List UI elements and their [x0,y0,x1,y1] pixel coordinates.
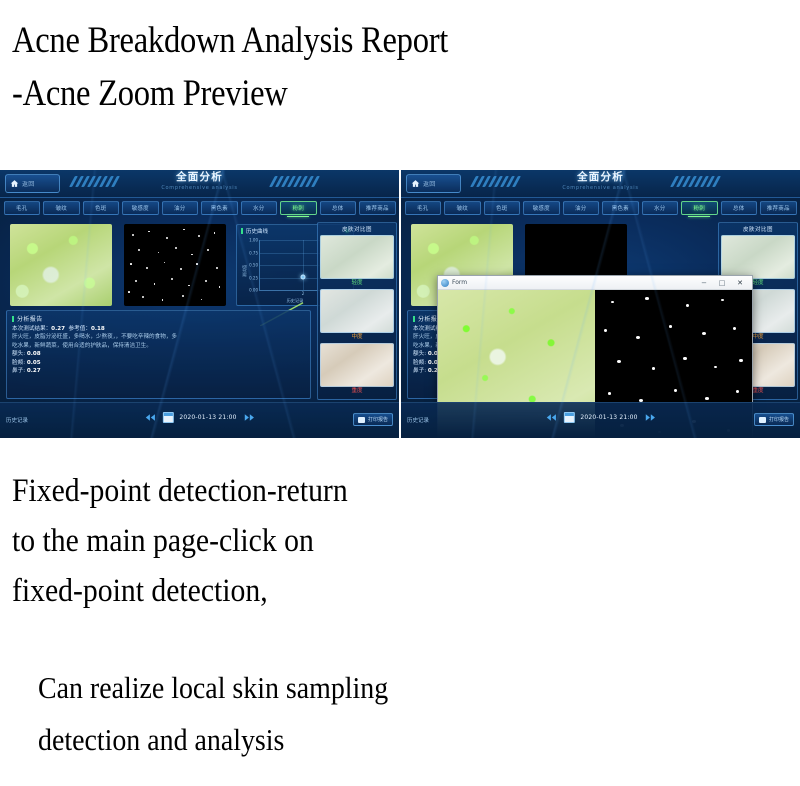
modal-window-controls[interactable]: − □ ✕ [695,276,749,289]
report-metric-cheek-label: 脸颊: [413,360,426,366]
history-nav-group: 2020-01-13 21:00 [143,412,255,423]
skin-comparison-sidebar: 皮肤对比图 轻度 中度 重度 [317,222,397,400]
tab-spots[interactable]: 色斑 [484,201,521,215]
tab-spots[interactable]: 色斑 [83,201,120,215]
chart-y-axis-label: 测试值 [242,265,248,277]
modal-titlebar[interactable]: Form − □ ✕ [438,276,752,290]
caption-line-2: to the main page-click on [12,516,723,566]
home-button-left[interactable]: 返回 [5,174,60,193]
screenshot-left: 返回 全面分析 Comprehensive analysis [0,170,399,438]
report-header: 分析报告 [12,314,305,323]
tab-oil[interactable]: 油分 [563,201,600,215]
analysis-tabs-left[interactable]: 毛孔 皱纹 色斑 敏感度 油分 黑色素 水分 粉刺 总体 推荐商品 [0,198,399,218]
tab-sensitivity[interactable]: 敏感度 [122,201,159,215]
tab-recommended-products[interactable]: 推荐商品 [760,201,797,215]
page-root: Acne Breakdown Analysis Report -Acne Zoo… [0,0,800,786]
print-report-label: 打印报告 [769,416,789,423]
prev-record-button[interactable] [143,412,156,423]
next-record-button[interactable] [243,412,256,423]
tab-melanin[interactable]: 黑色素 [201,201,238,215]
chart-ytick-1: 0.75 [249,250,258,255]
app-title-cn: 全面分析 [526,171,676,184]
home-button-label: 返回 [22,179,35,188]
page-title-line-1: Acne Breakdown Analysis Report [12,14,698,67]
tab-pores[interactable]: 毛孔 [405,201,442,215]
report-reference-label: 参考值： [69,326,91,332]
calendar-picker-button[interactable] [162,412,173,423]
caption-block-secondary: Can realize local skin sampling detectio… [38,662,800,766]
report-metric-forehead-label: 额头: [413,351,426,357]
history-nav-group: 2020-01-13 21:00 [544,412,656,423]
analysis-report-panel: 分析报告 本次测试结果：0.27 参考值：0.18 肝火旺，皮脂分泌旺盛，多喝水… [6,310,311,399]
close-button[interactable]: ✕ [731,276,749,289]
tab-overall[interactable]: 总体 [721,201,758,215]
report-accent-bar-icon [12,316,14,322]
home-button-label: 返回 [423,179,436,188]
report-advice-line-1: 肝火旺，皮脂分泌旺盛，多喝水，少熬夜，，不要吃辛辣的食物，多 [12,333,305,341]
app-title-cn: 全面分析 [125,171,275,184]
caption-line-4: Can realize local skin sampling [38,662,731,714]
tab-acne[interactable]: 粉刺 [280,201,317,215]
next-record-button[interactable] [644,412,657,423]
skin-comparison-title: 皮肤对比图 [320,225,394,233]
acne-mask-image[interactable] [124,224,226,306]
home-icon [10,179,19,188]
print-report-label: 打印报告 [368,416,388,423]
app-title-left: 全面分析 Comprehensive analysis [125,171,275,192]
comparison-label-severe: 重度 [320,388,394,395]
screenshot-right: 返回 全面分析 Comprehensive analysis [401,170,800,438]
app-topbar-left: 返回 全面分析 Comprehensive analysis [0,170,399,198]
report-accent-bar-icon [413,316,415,322]
skin-capture-image[interactable] [10,224,112,306]
header-deco-left-icon [72,176,130,189]
skin-comparison-title: 皮肤对比图 [721,225,795,233]
tab-acne[interactable]: 粉刺 [681,201,718,215]
app-bottombar-left: 历史记录 2020-01-13 21:00 [0,402,399,438]
report-result-value: 0.27 [51,326,65,332]
comparison-label-moderate: 中度 [320,334,394,341]
tab-sensitivity[interactable]: 敏感度 [523,201,560,215]
report-metric-cheek: 脸颊: 0.05 [12,359,305,367]
chart-ytick-0: 1.00 [249,238,258,243]
history-label: 历史记录 [407,416,429,424]
report-title: 分析报告 [17,314,43,323]
fast-forward-icon [244,412,255,423]
report-reference-value: 0.18 [91,326,105,332]
app-window-icon [441,279,449,287]
printer-icon [759,417,766,423]
page-title-line-2: -Acne Zoom Preview [12,67,698,120]
tab-pores[interactable]: 毛孔 [4,201,41,215]
print-report-button[interactable]: 打印报告 [353,413,393,426]
caption-line-3: fixed-point detection, [12,566,723,616]
comparison-thumbnail-severe[interactable] [320,343,394,387]
chart-accent-bar-icon [241,228,243,234]
tab-melanin[interactable]: 黑色素 [602,201,639,215]
tab-oil[interactable]: 油分 [162,201,199,215]
tab-overall[interactable]: 总体 [320,201,357,215]
caption-block-primary: Fixed-point detection-return to the main… [12,466,800,616]
app-title-en: Comprehensive analysis [526,184,676,192]
printer-icon [358,417,365,423]
skin-analysis-app-left: 返回 全面分析 Comprehensive analysis [0,170,399,438]
calendar-picker-button[interactable] [563,412,574,423]
report-metric-nose: 鼻子: 0.27 [12,367,305,375]
header-deco-right-icon [673,176,731,189]
caption-line-1: Fixed-point detection-return [12,466,723,516]
header-deco-left-icon [473,176,531,189]
workarea-left: 历史曲线 1.00 [0,220,399,402]
app-bottombar-right: 历史记录 2020-01-13 21:00 [401,402,800,438]
report-metric-nose-label: 鼻子: [413,368,426,374]
record-date: 2020-01-13 21:00 [179,414,236,421]
comparison-thumbnail-mild[interactable] [721,235,795,279]
comparison-label-mild: 轻度 [320,280,394,287]
tab-moisture[interactable]: 水分 [241,201,278,215]
minimize-button[interactable]: − [695,276,713,289]
comparison-thumbnail-moderate[interactable] [320,289,394,333]
main-panel-left: 历史曲线 1.00 [4,222,313,400]
record-date: 2020-01-13 21:00 [580,414,637,421]
report-advice-line-2: 吃水果，新鲜蔬菜，使用合适的护肤品，保持清洁卫生。 [12,342,305,350]
modal-title: Form [452,279,467,286]
report-metric-cheek-value: 0.05 [27,360,41,366]
app-title-en: Comprehensive analysis [125,184,275,192]
rewind-icon [545,412,556,423]
report-metric-forehead-value: 0.08 [27,351,41,357]
app-topbar-right: 返回 全面分析 Comprehensive analysis [401,170,800,198]
print-report-button[interactable]: 打印报告 [754,413,794,426]
tab-wrinkles[interactable]: 皱纹 [43,201,80,215]
report-result-row: 本次测试结果：0.27 参考值：0.18 [12,325,305,333]
skin-analysis-app-right: 返回 全面分析 Comprehensive analysis [401,170,800,438]
report-result-label: 本次测试结果： [12,326,51,332]
report-metric-nose-value: 0.27 [27,368,41,374]
prev-record-button[interactable] [544,412,557,423]
app-title-right: 全面分析 Comprehensive analysis [526,171,676,192]
page-title: Acne Breakdown Analysis Report -Acne Zoo… [12,14,792,120]
rewind-icon [144,412,155,423]
tab-recommended-products[interactable]: 推荐商品 [359,201,396,215]
chart-ytick-2: 0.50 [249,263,258,268]
header-deco-right-icon [272,176,330,189]
chart-ytick-4: 0.00 [249,288,258,293]
chart-data-point[interactable] [301,274,306,279]
report-metric-forehead: 额头: 0.08 [12,350,305,358]
caption-line-5: detection and analysis [38,714,731,766]
report-metric-nose-label: 鼻子: [12,368,25,374]
maximize-button[interactable]: □ [713,276,731,289]
comparison-thumbnail-mild[interactable] [320,235,394,279]
chart-ytick-3: 0.25 [249,275,258,280]
history-label: 历史记录 [6,416,28,424]
home-icon [411,179,420,188]
home-button-right[interactable]: 返回 [406,174,461,193]
tab-moisture[interactable]: 水分 [642,201,679,215]
report-metric-forehead-label: 额头: [12,351,25,357]
tab-wrinkles[interactable]: 皱纹 [444,201,481,215]
screenshot-strip: 返回 全面分析 Comprehensive analysis [0,170,800,438]
chart-title: 历史曲线 [246,227,268,235]
fast-forward-icon [645,412,656,423]
workarea-right: 分析报告 本次测试结果：0.27 参考值：0.18 肝火旺，皮脂分泌旺盛，多喝水… [401,220,800,402]
report-metric-cheek-label: 脸颊: [12,360,25,366]
analysis-tabs-right[interactable]: 毛孔 皱纹 色斑 敏感度 油分 黑色素 水分 粉刺 总体 推荐商品 [401,198,800,218]
